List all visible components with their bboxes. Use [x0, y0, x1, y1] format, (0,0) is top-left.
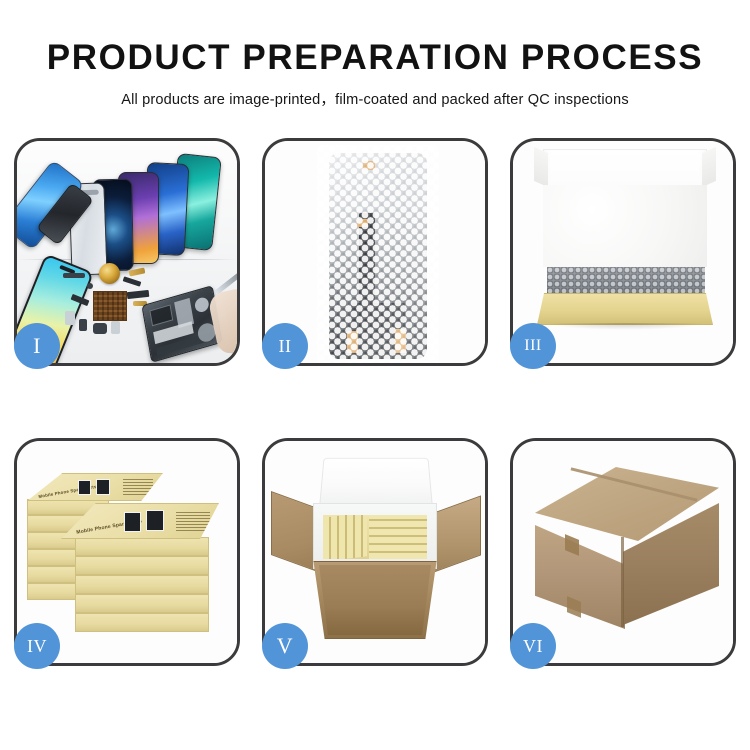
- process-step-grid: I II: [14, 138, 736, 690]
- step-number-badge-6: VI: [510, 623, 556, 669]
- page-subtitle: All products are image-printed，film-coat…: [0, 88, 750, 109]
- step-number-badge-4: IV: [14, 623, 60, 669]
- spare-part-speaker-icon: [93, 323, 107, 334]
- carton-front-panel-icon: [319, 565, 431, 635]
- spare-part-sensor-icon: [79, 319, 87, 331]
- foam-sheet-icon: [543, 185, 707, 267]
- process-step-panel-4[interactable]: Mobile Phone Spare Parts Mobile Phone Sp…: [14, 438, 240, 666]
- gold-coil-part-icon: [99, 263, 120, 284]
- spare-part-button-icon: [111, 321, 120, 334]
- step-number-badge-1: I: [14, 323, 60, 369]
- product-preparation-infographic: PRODUCT PREPARATION PROCESS All products…: [0, 0, 750, 750]
- step-number-badge-3: III: [510, 323, 556, 369]
- step-number-badge-5: V: [262, 623, 308, 669]
- carton-vertical-edge: [621, 537, 624, 627]
- spare-part-ribbon-icon: [127, 290, 150, 299]
- process-step-panel-6[interactable]: VI: [510, 438, 736, 666]
- process-step-panel-1[interactable]: I: [14, 138, 240, 366]
- spare-part-screw-icon: [87, 283, 93, 289]
- process-step-panel-2[interactable]: II: [262, 138, 488, 366]
- phone-chassis-internals-icon: [141, 285, 222, 363]
- inner-kraft-boxes-icon: [323, 515, 427, 559]
- box-shadow: [547, 323, 703, 330]
- chip-array-part-icon: [93, 291, 127, 321]
- step-number-badge-2: II: [262, 323, 308, 369]
- spare-part-camera-icon: [65, 311, 75, 325]
- header: PRODUCT PREPARATION PROCESS All products…: [0, 0, 750, 109]
- spare-part-bar-icon: [63, 273, 85, 278]
- grey-bubble-wrap-icon: [547, 267, 705, 295]
- spare-part-gold-flex-icon: [129, 267, 146, 276]
- page-title: PRODUCT PREPARATION PROCESS: [0, 40, 750, 77]
- spare-part-flex-cable-icon: [123, 276, 142, 286]
- process-step-panel-5[interactable]: V: [262, 438, 488, 666]
- process-step-panel-3[interactable]: III: [510, 138, 736, 366]
- bubble-wrap-icon: [317, 145, 439, 363]
- kraft-box-tray-icon: [537, 293, 713, 325]
- kraft-box-top-back: Mobile Phone Spare Parts: [27, 473, 163, 501]
